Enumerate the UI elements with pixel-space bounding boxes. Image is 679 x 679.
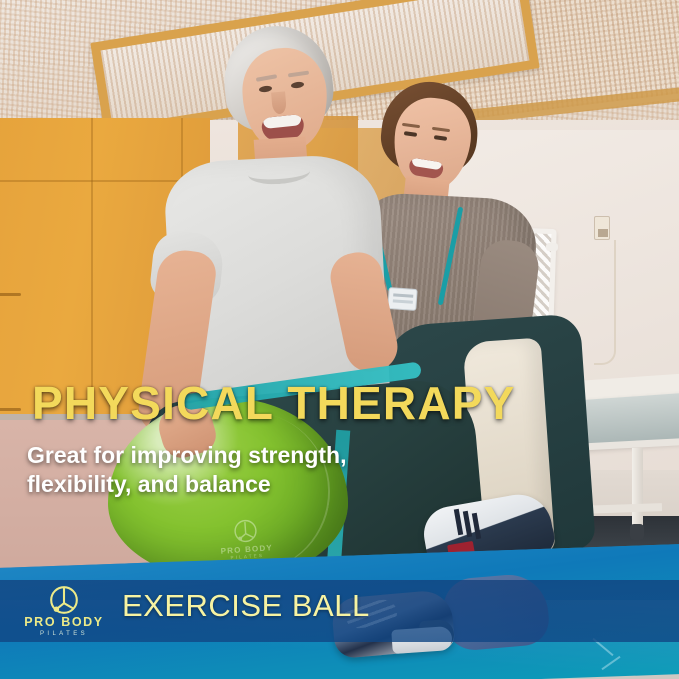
pilates-figure-circle-icon bbox=[48, 584, 80, 616]
brand-logo: PRO BODY PILATES bbox=[18, 582, 110, 638]
subtitle-line-2: flexibility, and balance bbox=[27, 470, 447, 499]
subtitle-line-1: Great for improving strength, bbox=[27, 441, 447, 470]
treatment-table-leg bbox=[632, 448, 643, 526]
table-caster bbox=[630, 524, 644, 540]
product-marketing-image: PRO BODY PILATES PHYSICAL THERAPY Great … bbox=[0, 0, 679, 679]
wall-outlet bbox=[594, 216, 610, 240]
wall-cord bbox=[594, 240, 616, 365]
subtitle: Great for improving strength, flexibilit… bbox=[27, 441, 447, 500]
clinic-photo-scene: PRO BODY PILATES bbox=[0, 0, 679, 679]
product-title: EXERCISE BALL bbox=[122, 588, 370, 624]
brand-name: PRO BODY bbox=[24, 615, 103, 629]
brand-tagline: PILATES bbox=[40, 631, 88, 637]
ball-printed-logo: PRO BODY PILATES bbox=[202, 514, 291, 562]
id-badge bbox=[387, 287, 417, 311]
wall-rack-bar bbox=[546, 243, 558, 251]
pilates-figure-circle-icon bbox=[232, 517, 260, 545]
headline: PHYSICAL THERAPY bbox=[32, 380, 516, 426]
